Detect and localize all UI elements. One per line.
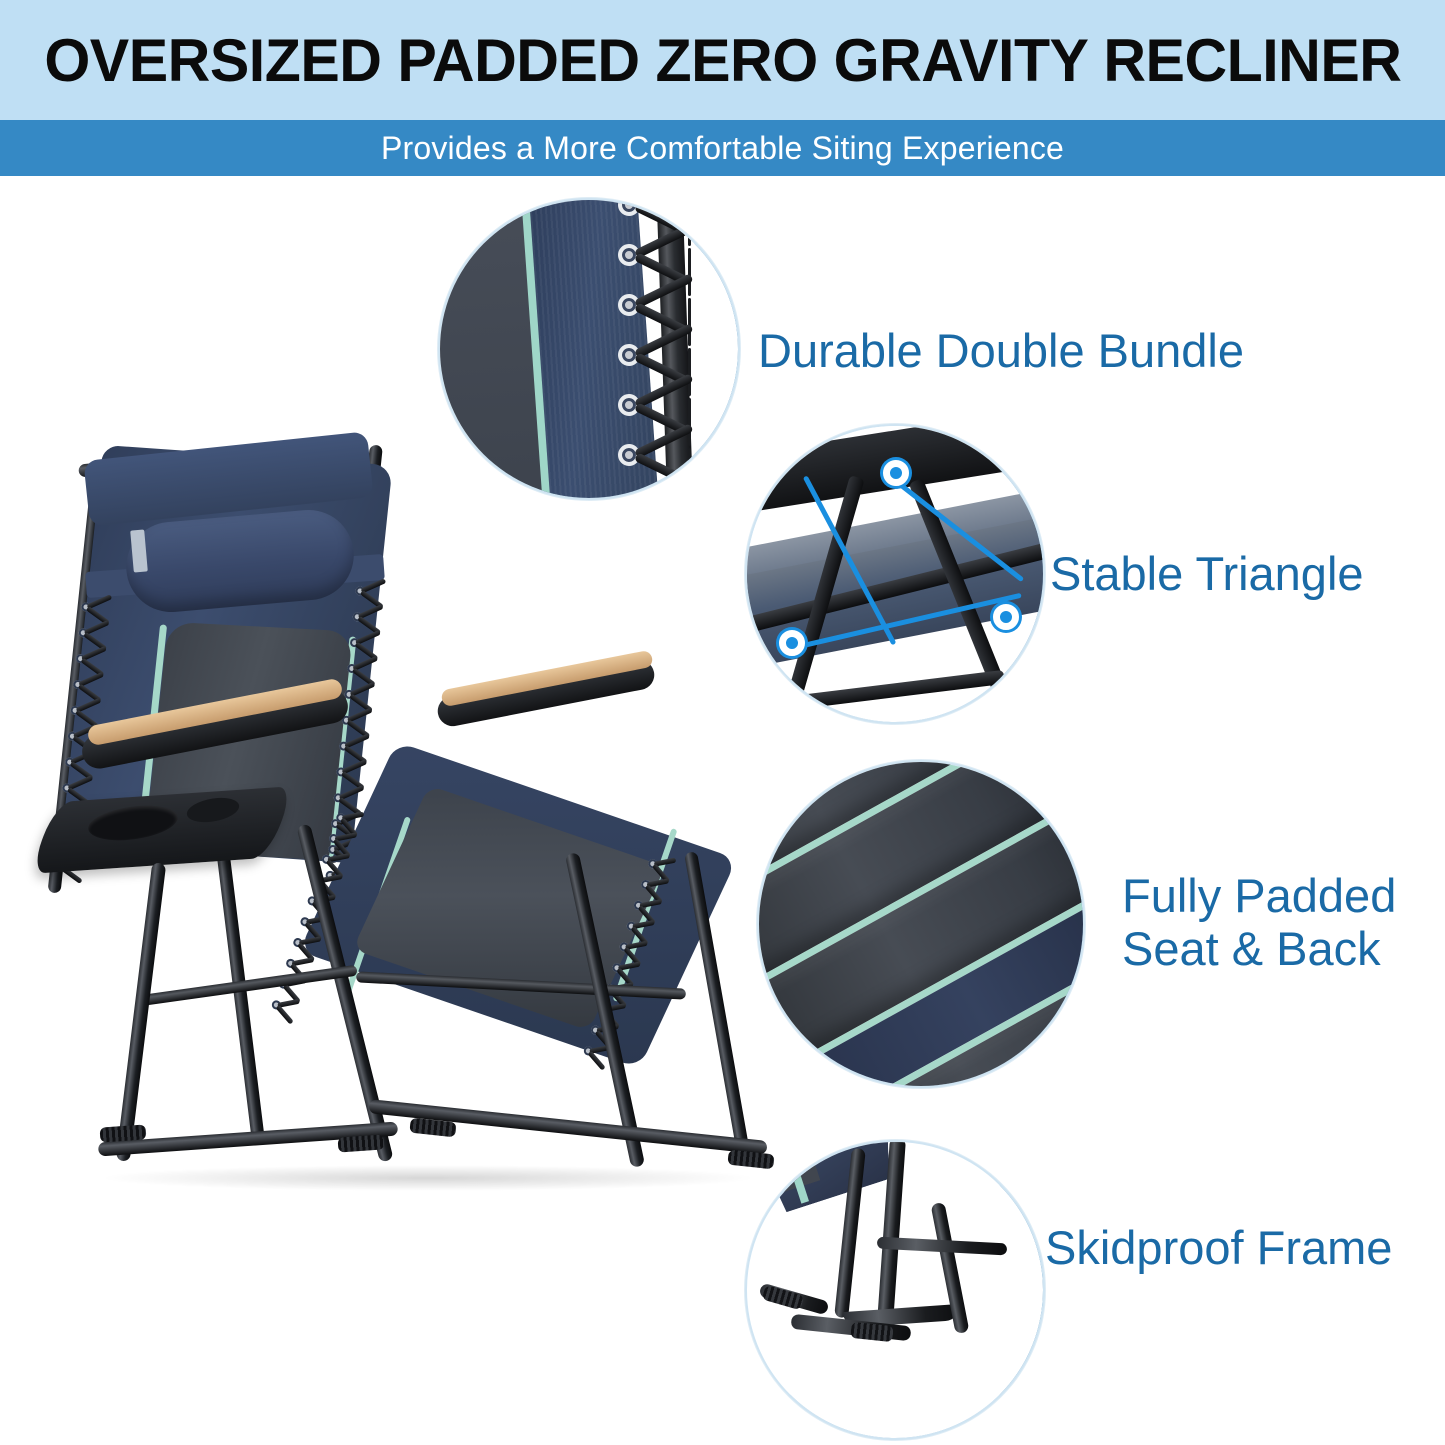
header-subtitle-band: Provides a More Comfortable Siting Exper… <box>0 120 1445 176</box>
callout-skidproof-frame <box>745 1140 1045 1440</box>
feature-label-fully-padded-seat-back: Fully PaddedSeat & Back <box>1122 870 1396 975</box>
product-shadow <box>98 1165 758 1191</box>
bungee-cord-link <box>688 448 691 496</box>
page-title: OVERSIZED PADDED ZERO GRAVITY RECLINER <box>44 26 1401 95</box>
feature-label-stable-triangle: Stable Triangle <box>1050 548 1364 601</box>
bungee-cord <box>276 1005 294 1025</box>
bungee-cord-link <box>688 298 691 346</box>
infographic-page: OVERSIZED PADDED ZERO GRAVITY RECLINER P… <box>0 0 1445 1445</box>
callout-stable-triangle <box>745 424 1045 724</box>
callout-durable-double-bundle <box>438 198 740 500</box>
callout4-skid-foot <box>850 1322 893 1342</box>
frame-crossbar-left <box>138 965 357 1007</box>
product-image-zero-gravity-recliner <box>38 420 798 1220</box>
frame-leg-back-left <box>216 850 264 1139</box>
feature-label-skidproof-frame: Skidproof Frame <box>1045 1222 1392 1275</box>
feature-label-durable-double-bundle: Durable Double Bundle <box>758 325 1244 378</box>
callout2-node-right <box>993 604 1019 630</box>
callout2-node-left <box>779 630 805 656</box>
callout-fully-padded-seat-back <box>757 760 1085 1088</box>
frame-leg-front-left <box>116 862 166 1161</box>
header-title-band: OVERSIZED PADDED ZERO GRAVITY RECLINER <box>0 0 1445 120</box>
skid-foot-2 <box>338 1134 385 1152</box>
callout2-node-top <box>883 460 909 486</box>
feature-label-line-2: Seat & Back <box>1122 922 1381 975</box>
callout3-padding-channels <box>757 760 1085 1088</box>
bungee-cord-link <box>688 398 691 446</box>
skid-foot-1 <box>100 1124 147 1142</box>
bungee-cord-link <box>688 348 691 396</box>
bungee-cord-link <box>688 198 691 246</box>
page-subtitle: Provides a More Comfortable Siting Exper… <box>381 130 1064 167</box>
bungee-cord-link <box>688 248 691 296</box>
feature-label-line-1: Fully Padded <box>1122 869 1396 922</box>
